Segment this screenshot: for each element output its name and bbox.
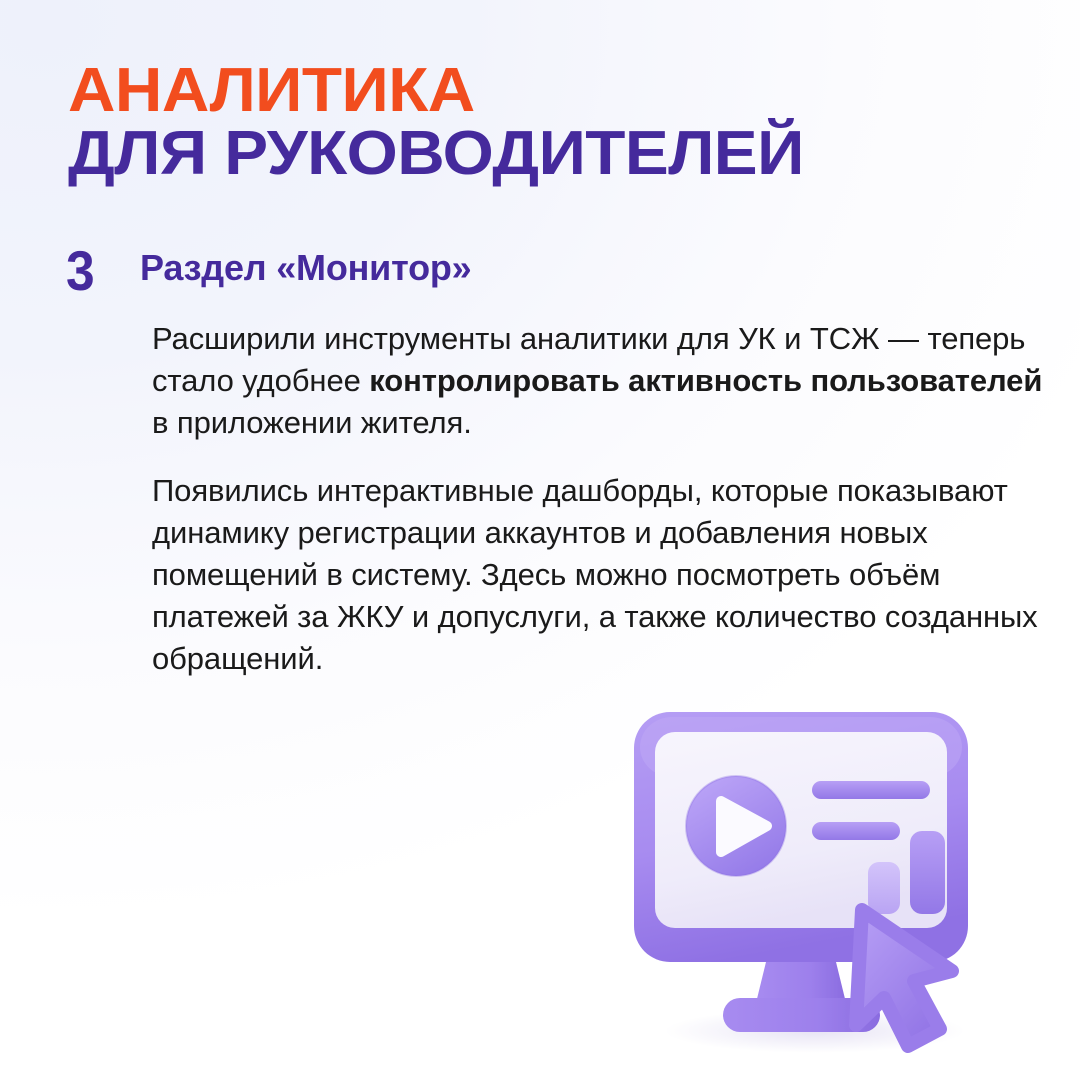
paragraph-1-part-2: в приложении жителя. <box>152 405 472 440</box>
text-bar-short <box>812 822 900 840</box>
section-heading-row: 3 Раздел «Монитор» <box>66 243 471 299</box>
body-copy: Расширили инструменты аналитики для УК и… <box>152 318 1052 680</box>
paragraph-1: Расширили инструменты аналитики для УК и… <box>152 318 1052 444</box>
paragraph-1-emphasis: контролировать активность пользователей <box>369 363 1042 398</box>
chart-bar-short <box>868 862 900 914</box>
title-line-analytics: АНАЛИТИКА <box>68 62 1080 119</box>
text-bar-long <box>812 781 930 799</box>
title-line-for-managers: ДЛЯ РУКОВОДИТЕЛЕЙ <box>68 125 1080 182</box>
chart-bar-tall <box>910 831 945 914</box>
slide-root: АНАЛИТИКА ДЛЯ РУКОВОДИТЕЛЕЙ 3 Раздел «Мо… <box>0 0 1080 1080</box>
title-block: АНАЛИТИКА ДЛЯ РУКОВОДИТЕЛЕЙ <box>68 62 1028 182</box>
step-number: 3 <box>66 243 134 299</box>
section-title: Раздел «Монитор» <box>140 243 471 288</box>
paragraph-2: Появились интерактивные дашборды, которы… <box>152 470 1052 680</box>
monitor-dashboard-illustration <box>600 695 1050 1080</box>
